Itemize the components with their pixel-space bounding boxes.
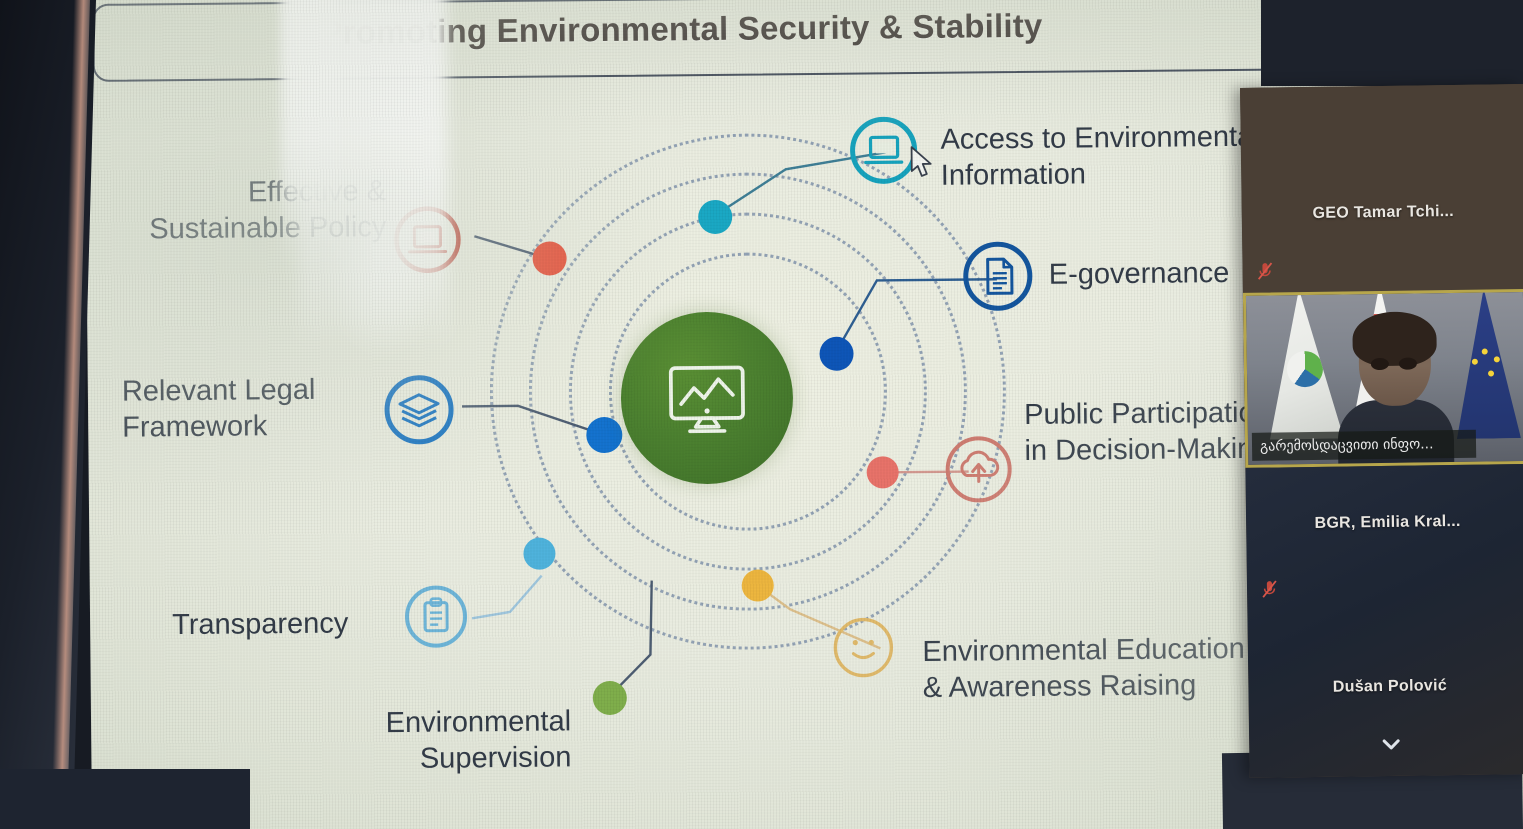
dot-e-governance [819,337,853,371]
dot-environmental-supervision [593,681,627,715]
microphone-muted-icon [1256,262,1273,281]
label-line-1: Access to Environmental [940,119,1259,158]
dot-access-to-environmental-information [698,200,732,234]
label-transparency: Transparency [172,605,349,643]
label-e-governance: E-governance [1049,255,1230,293]
label-environmental-supervision: Environmental Supervision [271,703,572,778]
label-line-2: & Awareness Raising [923,667,1246,706]
icon-environmental-education-awareness-raising [828,612,899,683]
icon-public-participation-in-decision-making [940,431,1017,508]
dot-transparency [523,538,555,570]
mouse-pointer-icon [910,146,936,185]
label-line-1: Environmental [271,703,571,742]
label-line-2: Supervision [271,739,571,778]
dot-effective-sustainable-policy [532,241,566,275]
label-access-to-environmental-information: Access to Environmental Information [940,119,1260,194]
label-line-1: Transparency [172,605,349,643]
icon-effective-sustainable-policy [390,202,465,277]
label-environmental-education-awareness-raising: Environmental Education & Awareness Rais… [922,631,1245,706]
icon-transparency [400,580,473,653]
active-speaker-tile[interactable]: გარემოსდაცვითი ინფო... [1243,289,1523,468]
label-line-2: in Decision-Making [1024,431,1271,469]
participant-name: BGR, Emilia Kral... [1246,512,1523,534]
label-line-1: Effective & [86,173,386,212]
chevron-down-icon[interactable] [1249,732,1523,762]
photographed-screen-scene: Promoting Environmental Security & Stabi… [0,0,1523,829]
microphone-muted-icon [1261,579,1278,598]
dot-relevant-legal-framework [586,417,622,453]
panel-backdrop-top [1261,0,1523,86]
label-relevant-legal-framework: Relevant Legal Framework [122,372,316,446]
label-line-1: Public Participation [1024,395,1271,433]
dot-environmental-education [742,569,774,601]
participant-name: GEO Tamar Tchi... [1242,202,1523,224]
icon-e-governance [958,237,1037,316]
label-line-1: Environmental Education [922,631,1245,670]
flag-eu [1455,292,1521,439]
label-line-2: Sustainable Policy [86,209,386,248]
participant-name: Dušan Polović [1248,676,1523,698]
icon-relevant-legal-framework [380,370,459,449]
label-line-1: Relevant Legal [122,372,316,410]
flag-organisation [1268,292,1344,440]
participant-tile[interactable]: BGR, Emilia Kral... Dušan Polović [1245,464,1523,778]
label-public-participation-in-decision-making: Public Participation in Decision-Making [1024,395,1271,469]
label-line-1: E-governance [1049,255,1230,293]
dot-public-participation [867,456,899,488]
label-line-2: Framework [122,408,316,446]
label-effective-sustainable-policy: Effective & Sustainable Policy [86,173,387,248]
hub-monitor-chart-icon [620,311,794,485]
participant-tile[interactable]: GEO Tamar Tchi... [1240,84,1523,293]
video-conference-panel[interactable]: GEO Tamar Tchi... გარემოსდაცვითი [1240,84,1523,778]
screen-bezel-bottom [0,769,250,829]
participant-caption: გარემოსდაცვითი ინფო... [1252,430,1476,461]
label-line-2: Information [941,155,1260,194]
